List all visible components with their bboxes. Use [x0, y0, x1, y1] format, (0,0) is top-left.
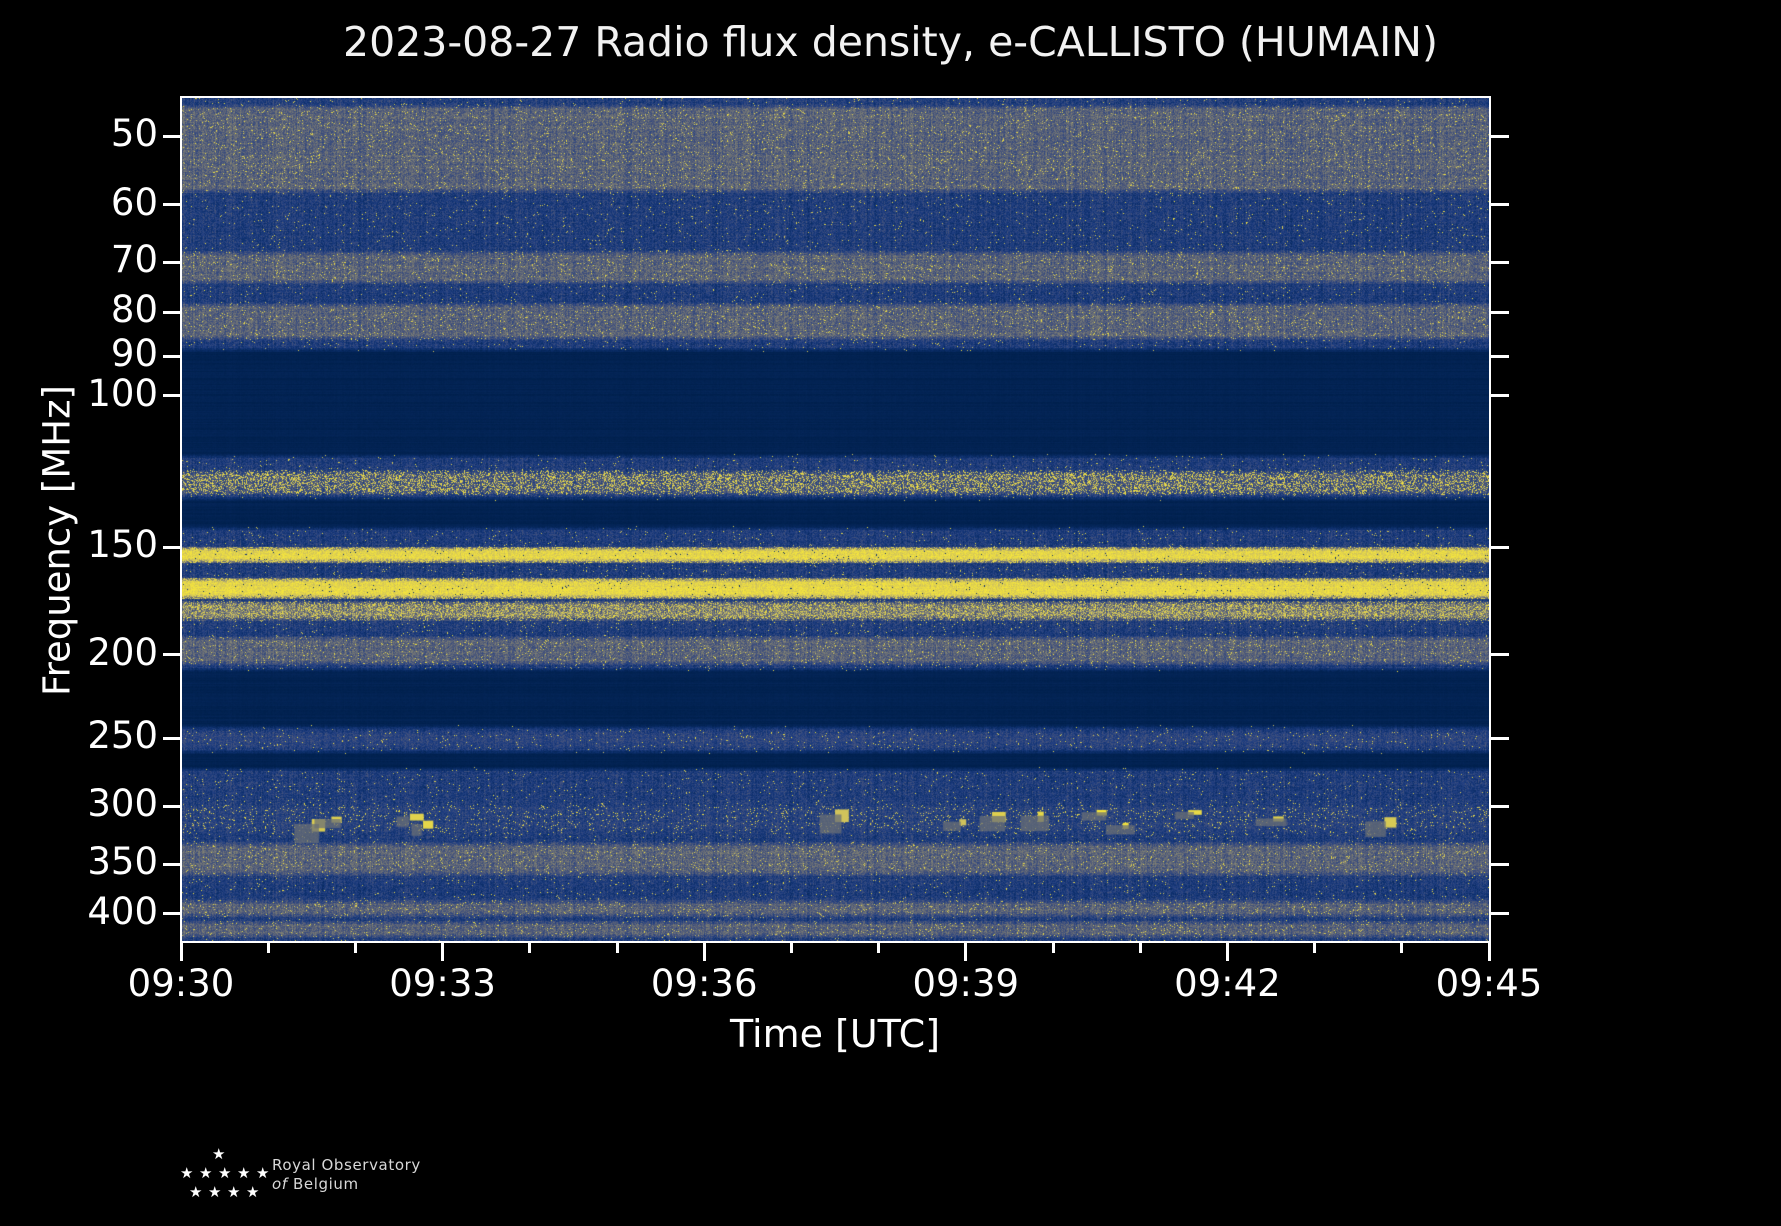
star-icon: ★	[212, 1147, 225, 1162]
logo-line-organisation: Royal Observatory	[272, 1156, 421, 1175]
x-tick-09-33	[441, 943, 444, 961]
y-tick-right-100	[1491, 394, 1509, 397]
y-tick-70	[163, 261, 181, 264]
x-tick-minor	[616, 943, 619, 953]
axis-spine-left	[180, 96, 182, 943]
x-tick-label-09-45: 09:45	[1379, 965, 1599, 1002]
y-tick-150	[163, 546, 181, 549]
y-tick-right-90	[1491, 355, 1509, 358]
y-tick-right-250	[1491, 737, 1509, 740]
x-tick-minor	[528, 943, 531, 953]
logo-line-country: of Belgium	[272, 1175, 421, 1194]
y-tick-300	[163, 805, 181, 808]
x-axis-title: Time [UTC]	[181, 1012, 1489, 1056]
logo-stars-icon: ★★★★★★★★★★	[176, 1147, 260, 1203]
star-icon: ★	[256, 1166, 269, 1181]
y-tick-label-150: 150	[0, 526, 158, 563]
y-tick-label-350: 350	[0, 843, 158, 880]
spectrogram-plot-area	[181, 97, 1489, 941]
y-tick-right-80	[1491, 311, 1509, 314]
y-tick-label-50: 50	[0, 115, 158, 152]
x-tick-label-09-30: 09:30	[71, 965, 291, 1002]
star-icon: ★	[180, 1166, 193, 1181]
logo-of-word: of	[272, 1175, 288, 1193]
spectrogram-image	[181, 97, 1489, 941]
x-tick-09-30	[180, 943, 183, 961]
x-tick-minor	[790, 943, 793, 953]
y-tick-right-150	[1491, 546, 1509, 549]
y-tick-label-80: 80	[0, 291, 158, 328]
y-tick-right-350	[1491, 863, 1509, 866]
figure-canvas: 2023-08-27 Radio flux density, e-CALLIST…	[0, 0, 1781, 1226]
y-tick-right-70	[1491, 261, 1509, 264]
star-icon: ★	[246, 1185, 259, 1200]
y-tick-label-250: 250	[0, 717, 158, 754]
x-tick-minor	[1052, 943, 1055, 953]
y-tick-right-200	[1491, 653, 1509, 656]
y-tick-100	[163, 394, 181, 397]
y-tick-right-300	[1491, 805, 1509, 808]
y-tick-80	[163, 311, 181, 314]
y-tick-250	[163, 737, 181, 740]
star-icon: ★	[227, 1185, 240, 1200]
x-tick-09-39	[964, 943, 967, 961]
y-tick-400	[163, 912, 181, 915]
x-tick-minor	[267, 943, 270, 953]
x-tick-minor	[354, 943, 357, 953]
y-tick-right-60	[1491, 203, 1509, 206]
x-tick-09-42	[1226, 943, 1229, 961]
axis-spine-top	[180, 96, 1491, 98]
x-tick-minor	[1139, 943, 1142, 953]
x-tick-label-09-33: 09:33	[333, 965, 553, 1002]
y-tick-label-300: 300	[0, 785, 158, 822]
x-tick-label-09-42: 09:42	[1117, 965, 1337, 1002]
y-tick-90	[163, 355, 181, 358]
x-tick-minor	[1313, 943, 1316, 953]
page-title: 2023-08-27 Radio flux density, e-CALLIST…	[0, 18, 1781, 66]
x-tick-label-09-36: 09:36	[594, 965, 814, 1002]
y-tick-50	[163, 135, 181, 138]
y-tick-label-100: 100	[0, 375, 158, 412]
y-axis-title: Frequency [MHz]	[36, 361, 79, 721]
star-icon: ★	[208, 1185, 221, 1200]
star-icon: ★	[199, 1166, 212, 1181]
y-tick-label-400: 400	[0, 893, 158, 930]
x-tick-minor	[877, 943, 880, 953]
x-tick-minor	[1400, 943, 1403, 953]
axis-spine-bottom	[180, 941, 1491, 943]
y-tick-label-60: 60	[0, 184, 158, 221]
y-tick-right-50	[1491, 135, 1509, 138]
star-icon: ★	[189, 1185, 202, 1200]
y-tick-350	[163, 863, 181, 866]
royal-observatory-logo: ★★★★★★★★★★ Royal Observatory of Belgium	[176, 1147, 421, 1203]
logo-country-word: Belgium	[293, 1175, 359, 1193]
star-icon: ★	[237, 1166, 250, 1181]
logo-text: Royal Observatory of Belgium	[272, 1156, 421, 1194]
y-tick-200	[163, 653, 181, 656]
y-tick-label-70: 70	[0, 241, 158, 278]
star-icon: ★	[218, 1166, 231, 1181]
y-tick-right-400	[1491, 912, 1509, 915]
x-tick-09-45	[1488, 943, 1491, 961]
x-tick-09-36	[703, 943, 706, 961]
axis-spine-right	[1489, 96, 1491, 943]
y-tick-label-200: 200	[0, 634, 158, 671]
y-tick-label-90: 90	[0, 335, 158, 372]
x-tick-label-09-39: 09:39	[856, 965, 1076, 1002]
y-tick-60	[163, 203, 181, 206]
